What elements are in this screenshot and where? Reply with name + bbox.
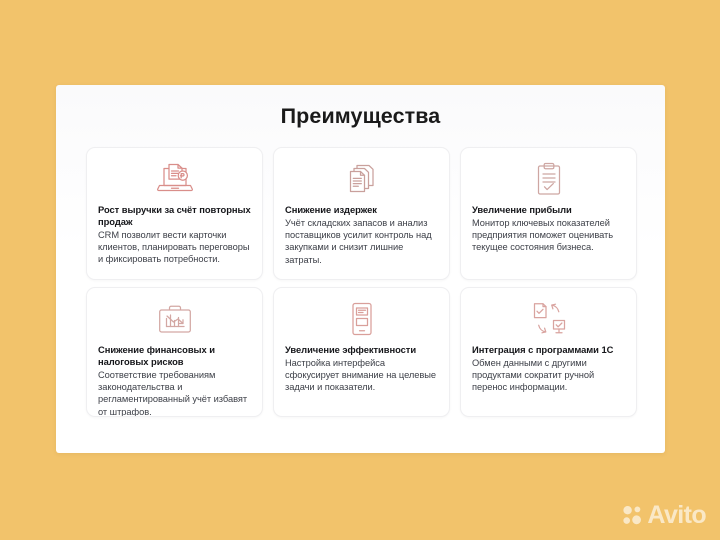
screenshot-root: Преимущества Рост выручки з <box>0 0 720 540</box>
advantage-card-profit-increase[interactable]: Увеличение прибыли Монитор ключевых пока… <box>460 147 637 280</box>
card-title: Рост выручки за счёт повторных продаж <box>98 204 251 228</box>
avito-watermark: Avito <box>622 503 706 528</box>
advantage-card-efficiency-increase[interactable]: Увеличение эффективности Настройка интер… <box>273 287 450 417</box>
card-body: Монитор ключевых показателей предприятия… <box>472 217 625 254</box>
page-title: Преимущества <box>56 104 665 129</box>
avito-dots-icon <box>622 505 643 526</box>
clipboard-checklist-icon <box>472 157 625 201</box>
avito-wordmark: Avito <box>647 503 706 528</box>
sync-exchange-icon <box>472 297 625 341</box>
advantage-card-1c-integration[interactable]: Интеграция с программами 1С Обмен данным… <box>460 287 637 417</box>
card-title: Снижение финансовых и налоговых рисков <box>98 344 251 368</box>
card-body: Соответствие требованиям законодательств… <box>98 369 251 417</box>
card-body: Настройка интерфейса сфокусирует внимани… <box>285 357 438 394</box>
card-title: Увеличение прибыли <box>472 204 625 216</box>
card-body: Учёт складских запасов и анализ поставщи… <box>285 217 438 266</box>
documents-stack-icon <box>285 157 438 201</box>
card-title: Увеличение эффективности <box>285 344 438 356</box>
advantages-card-grid: Рост выручки за счёт повторных продаж CR… <box>86 147 638 417</box>
laptop-document-ruble-icon <box>98 157 251 201</box>
briefcase-declining-chart-icon <box>98 297 251 341</box>
advantage-card-revenue-growth[interactable]: Рост выручки за счёт повторных продаж CR… <box>86 147 263 280</box>
card-body: Обмен данными с другими продуктами сокра… <box>472 357 625 394</box>
card-title: Интеграция с программами 1С <box>472 344 625 356</box>
advantages-panel: Преимущества Рост выручки з <box>56 85 665 453</box>
advantage-card-cost-reduction[interactable]: Снижение издержек Учёт складских запасов… <box>273 147 450 280</box>
card-title: Снижение издержек <box>285 204 438 216</box>
card-body: CRM позволит вести карточки клиентов, пл… <box>98 229 251 266</box>
advantage-card-risk-reduction[interactable]: Снижение финансовых и налоговых рисков С… <box>86 287 263 417</box>
smartphone-interface-icon <box>285 297 438 341</box>
